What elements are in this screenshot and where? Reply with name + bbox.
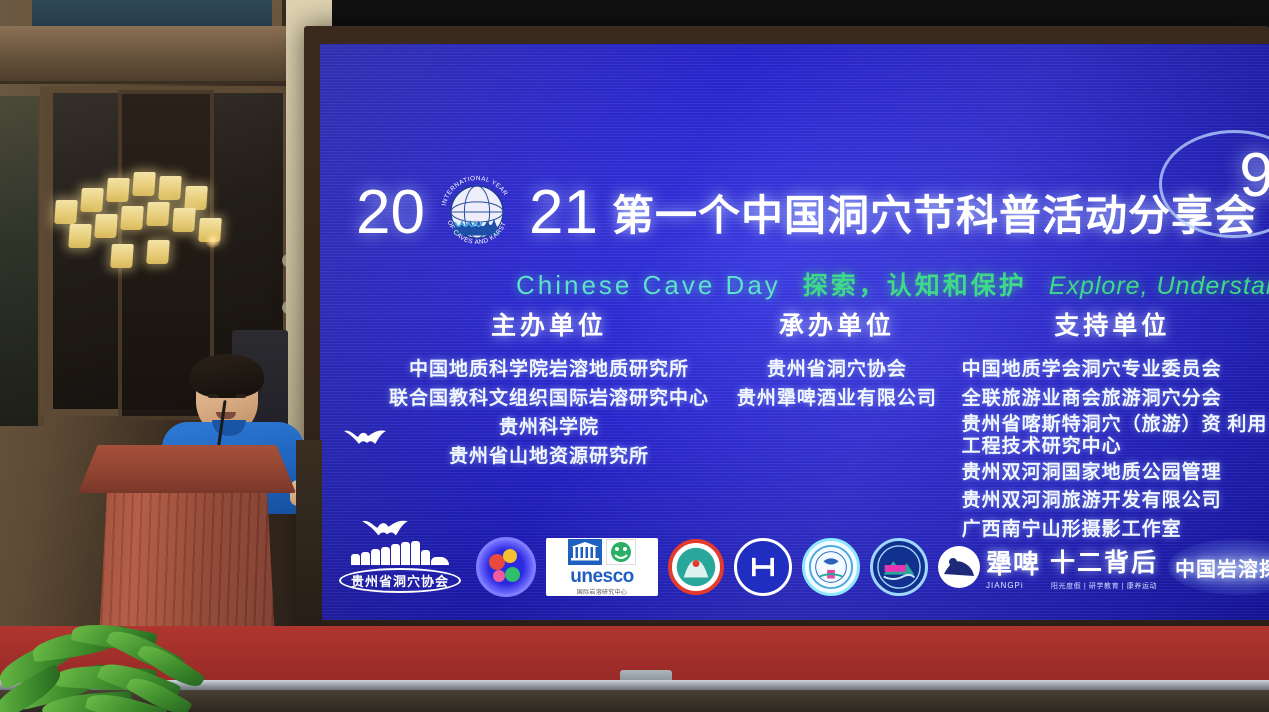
cave-figure-icon [675,546,717,588]
subtitle-chinese: 探索，认知和保护 [803,266,1027,302]
circle-emblem [476,537,536,597]
wall-light-glow [205,232,221,248]
column-supporters: 支持单位 中国地质学会洞穴专业委员会 全联旅游业商会旅游洞穴分会 贵州省喀斯特洞… [956,306,1269,545]
organisation-item: 联合国教科文组织国际岩溶研究中心 [380,385,718,414]
organisation-item: 贵州科学院 [380,414,718,443]
organisation-item: 中国地质学会洞穴专业委员会 [956,356,1269,385]
chandelier-lamp [146,240,170,264]
presenter-hair [190,354,264,398]
unesco-wordmark: unesco [570,567,634,586]
pillar-icon [741,545,785,589]
organisation-item: 中国地质科学院岩溶地质研究所 [380,356,718,385]
organisation-item: 全联旅游业商会旅游洞穴分会 [956,385,1269,414]
chandelier-lamp [68,224,92,248]
sponsor-logo-strip: 贵州省洞穴协会 [320,528,1269,606]
association-name-label: 贵州省洞穴协会 [339,568,461,593]
year-2021-right: 21 [529,177,598,248]
organisation-item: 贵州双河洞旅游开发有限公司 [956,487,1269,516]
red-circle-emblem-logo [668,539,724,595]
chandelier-lamp [158,176,182,200]
chandelier-lamp [54,200,78,224]
chandelier-lamp [146,202,170,226]
date-badge: 9/ [1239,140,1269,211]
organisation-columns: 主办单位 中国地质科学院岩溶地质研究所 联合国教科文组织国际岩溶研究中心 贵州科… [380,306,1269,545]
chandelier-lamp [120,206,144,230]
guizhou-cave-association-logo: 贵州省洞穴协会 [334,536,466,598]
organisation-item: 贵州省洞穴协会 [718,356,955,385]
organisation-item: 贵州双河洞国家地质公园管理 [956,459,1269,488]
twelve-backs-wordmark: 十二背后 [1050,543,1158,579]
chandelier-lamp [132,172,156,196]
column-hosts: 承办单位 贵州省洞穴协会 贵州犟啤酒业有限公司 [718,306,955,545]
unesco-logo: unesco 国际岩溶研究中心 [546,538,658,596]
jiangpi-mark-icon [938,546,980,588]
column-title: 承办单位 [718,306,955,342]
mountain-wave-icon [876,544,922,590]
podium-top [78,445,296,493]
conference-photo-scene: 20 INTERNATIONAL YEAR [0,0,1269,712]
column-organisers: 主办单位 中国地质科学院岩溶地质研究所 联合国教科文组织国际岩溶研究中心 贵州科… [380,306,718,545]
twelve-backs-sublabel: 阳光度假 | 研学教育 | 康养运动 [1051,581,1157,591]
chandelier [55,170,235,290]
left-window-glass [0,96,44,426]
subtitle-english: Chinese Cave Day [516,270,781,301]
subtitle-english-tagline: Explore, Understand and [1049,272,1269,301]
jiangpi-logo: 犟啤 JIANGPi [938,544,1040,590]
green-emblem-icon [606,539,636,565]
colorful-circle-logo [476,537,536,597]
presenter-eye [236,394,246,398]
potted-plant [0,578,236,712]
twelve-backs-logo: 十二背后 阳光度假 | 研学教育 | 康养运动 [1050,543,1158,591]
china-karst-exploration-logo: 中国岩溶探险 [1168,539,1269,595]
chandelier-lamp [106,178,130,202]
karst-wordmark: 中国岩溶探险 [1175,553,1269,582]
organisation-item: 贵州犟啤酒业有限公司 [718,385,955,414]
international-year-of-caves-and-karst-logo: INTERNATIONAL YEAR OF CAVES AND KARST [435,170,519,254]
subtitle-row: Chinese Cave Day 探索，认知和保护 Explore, Under… [516,266,1269,302]
evolution-figures-icon [351,541,449,565]
window-mullion [46,92,53,410]
dark-pillar [296,440,322,650]
unesco-marks [568,539,636,565]
wooden-beam [0,26,300,84]
blue-circle-emblem-logo [734,538,792,596]
chandelier-lamp [184,186,208,210]
jiangpi-sublabel: JIANGPi [986,581,1024,590]
organisation-item: 贵州省喀斯特洞穴（旅游）资 利用工程技术研究中心 [956,414,1269,459]
column-title: 支持单位 [956,306,1269,342]
guizhou-academy-of-sciences-logo [802,538,860,596]
unesco-sublabel: 国际岩溶研究中心 [577,587,627,596]
led-screen: 20 INTERNATIONAL YEAR [320,44,1269,620]
academy-emblem-icon [808,544,854,590]
presenter-eye [208,394,218,398]
chandelier-lamp [94,214,118,238]
circle-emblem [734,538,792,596]
column-title: 主办单位 [380,306,718,342]
year-2021-left: 20 [356,177,425,248]
circle-emblem [870,538,928,596]
screen-header-row: 20 INTERNATIONAL YEAR [356,152,1269,272]
temple-icon [568,539,602,565]
jiangpi-wordmark: 犟啤 [986,544,1040,581]
chandelier-lamp [80,188,104,212]
mountain-circle-emblem-logo [870,538,928,596]
globe-karst-emblem: INTERNATIONAL YEAR OF CAVES AND KARST [435,170,519,254]
organisation-item: 贵州省山地资源研究所 [380,443,718,472]
chandelier-lamp [110,244,134,268]
circle-emblem [802,538,860,596]
circle-emblem [668,539,724,595]
chandelier-lamp [172,208,196,232]
